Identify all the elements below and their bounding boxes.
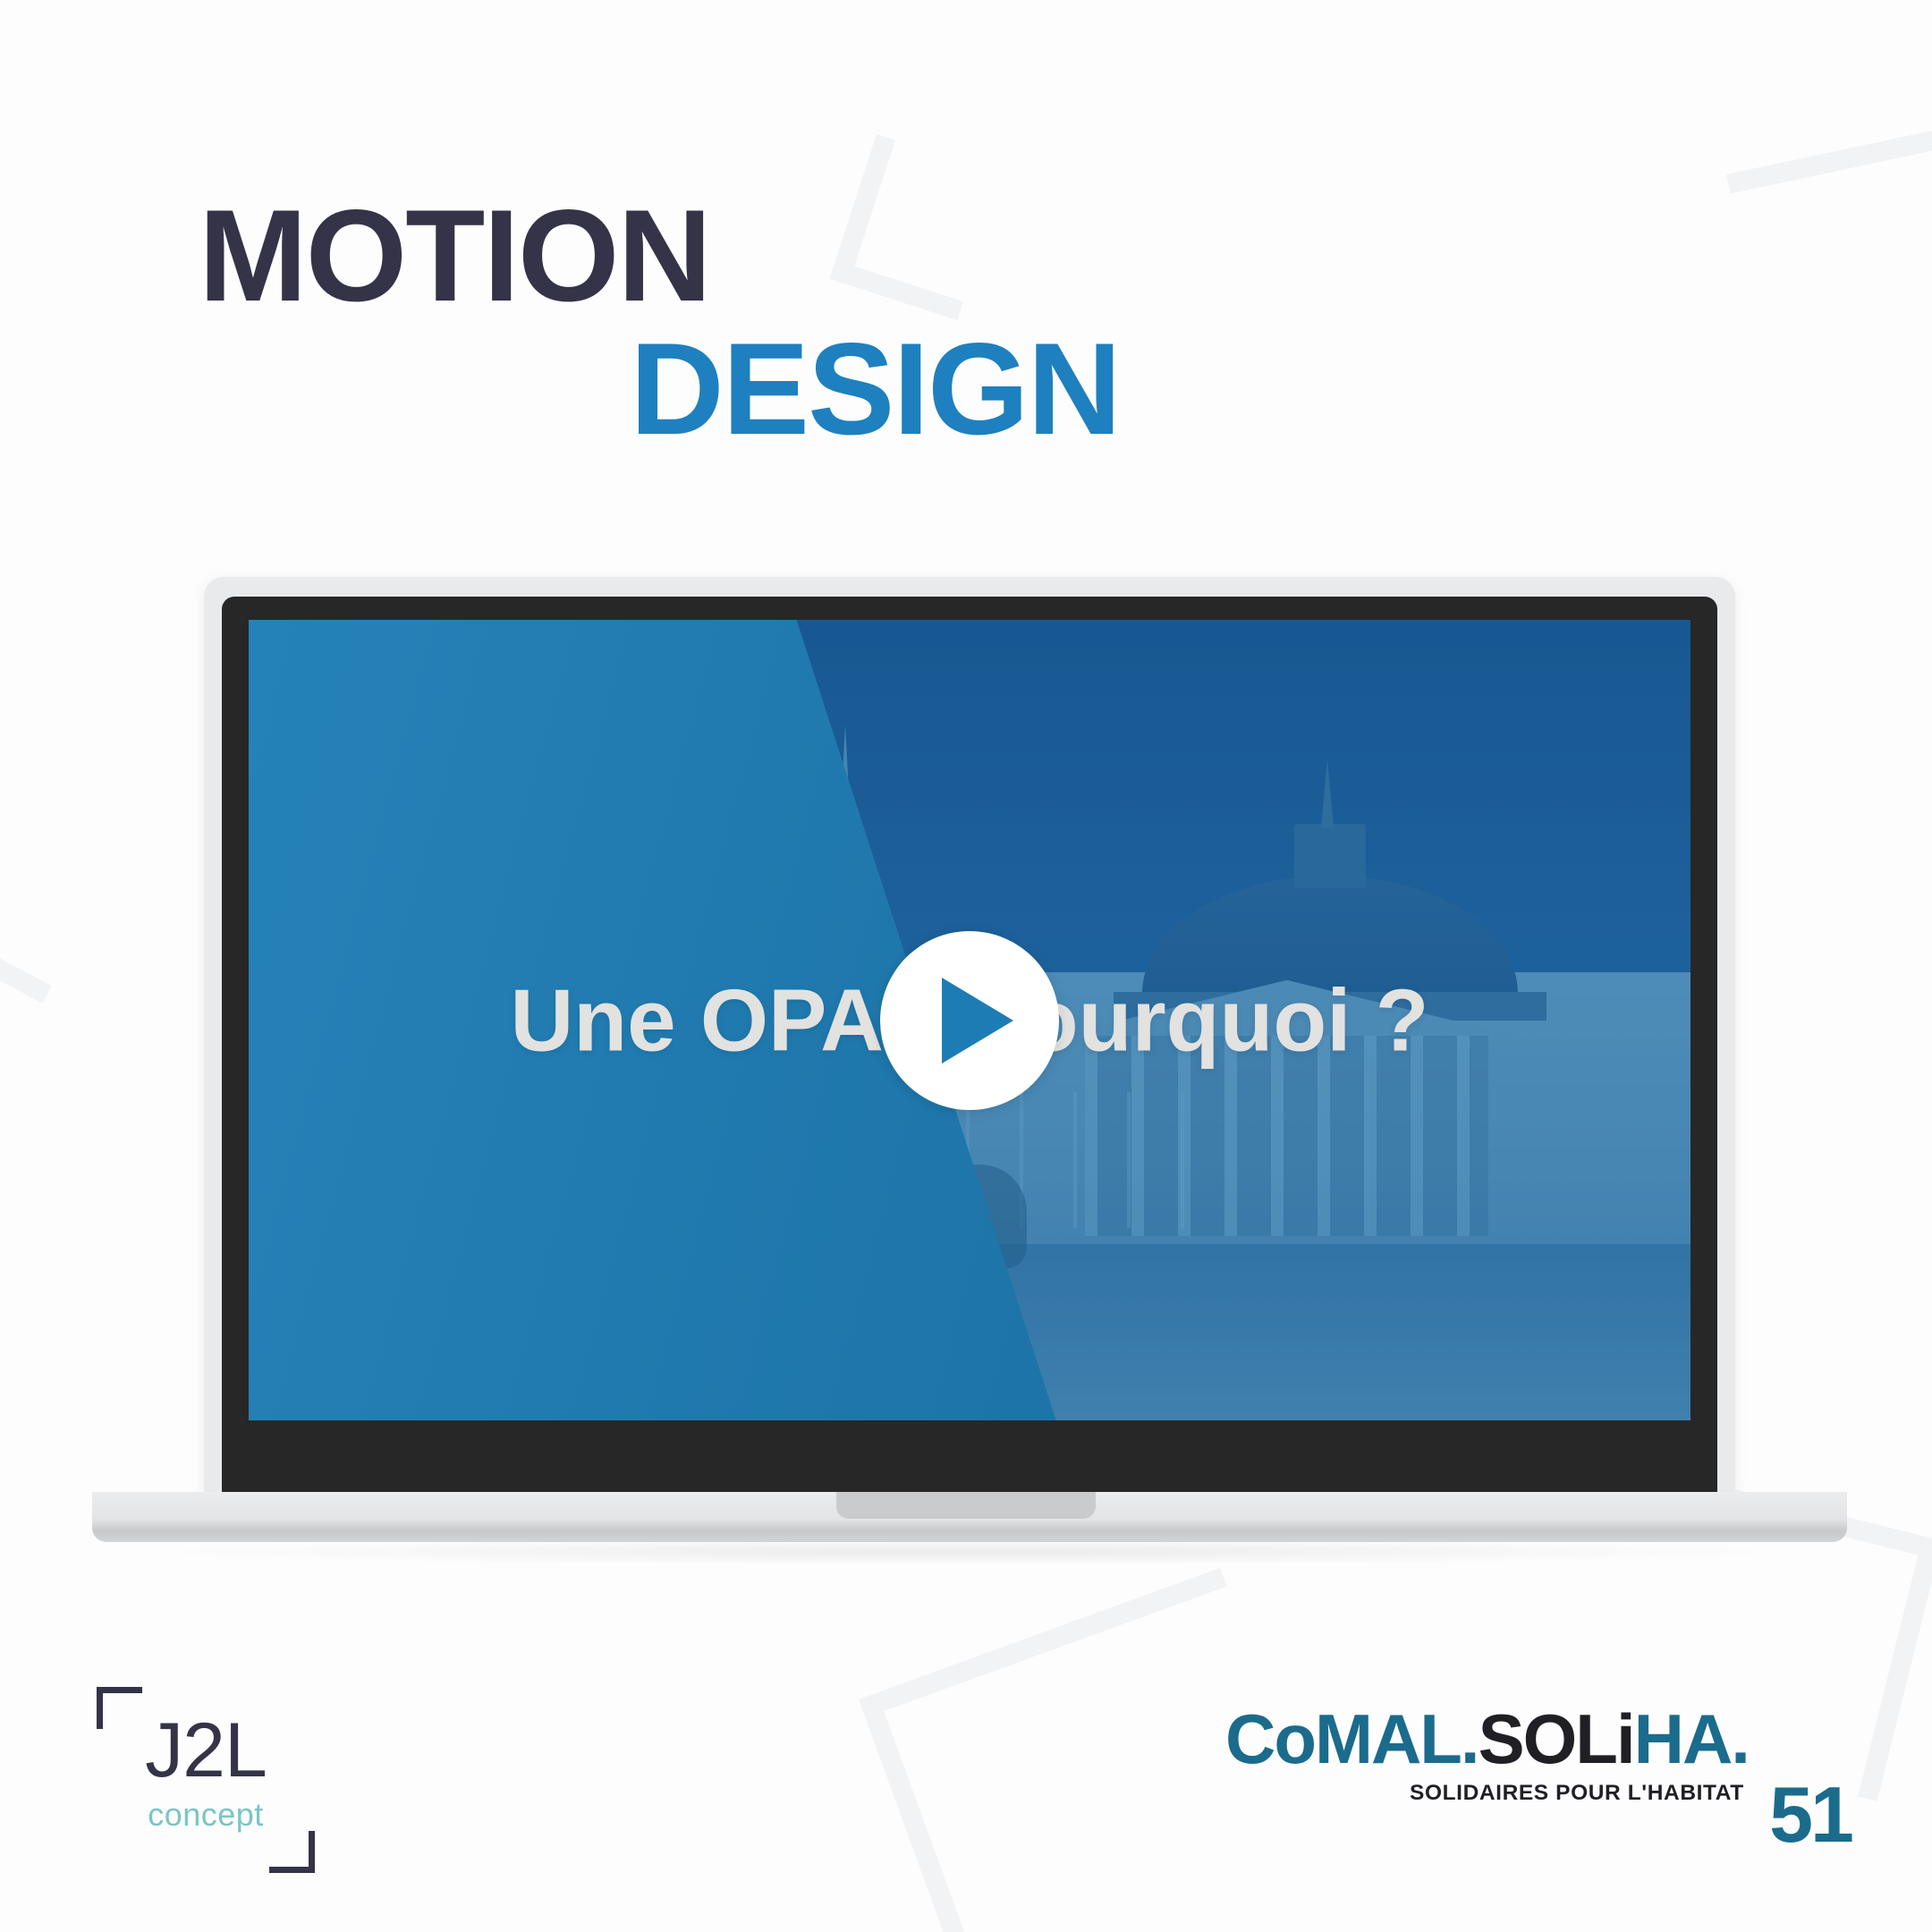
bracket-arm-horizontal: [859, 1568, 1227, 1718]
bracket-arm-vertical: [859, 1692, 1009, 1932]
comal-wordmark: CoMAL.SOLiHA.: [1225, 1704, 1749, 1774]
laptop-bezel: Une OPAH pourquoi ?: [222, 597, 1717, 1494]
comal-soliha-logo: CoMAL.SOLiHA. SOLIDAIRES POUR L'HABITAT …: [1225, 1704, 1851, 1874]
comal-wordmark-part1: CoMAL.: [1225, 1699, 1479, 1778]
play-button[interactable]: [880, 931, 1059, 1110]
play-icon: [942, 978, 1013, 1063]
laptop-base-notch: [836, 1492, 1096, 1519]
j2l-tagline: concept: [89, 1796, 322, 1834]
comal-wordmark-part2: SOLi: [1479, 1699, 1634, 1778]
laptop-drop-shadow: [161, 1538, 1771, 1565]
headline-line-motion: MOTION: [199, 190, 1147, 323]
bracket-arm-vertical: [1858, 1536, 1932, 1801]
page-title: MOTION DESIGN: [199, 190, 1147, 456]
j2l-wordmark: J2L: [89, 1712, 322, 1789]
comal-department-number: 51: [1769, 1775, 1851, 1854]
comal-tagline: SOLIDAIRES POUR L'HABITAT: [1410, 1781, 1744, 1806]
headline-line-design: DESIGN: [199, 323, 1147, 456]
video-screen[interactable]: Une OPAH pourquoi ?: [249, 620, 1690, 1420]
j2l-concept-logo: J2L concept: [89, 1682, 322, 1878]
laptop-mockup: Une OPAH pourquoi ?: [0, 577, 1932, 1552]
comal-wordmark-part3: HA.: [1634, 1699, 1749, 1778]
logo-bracket-bottom-right-icon: [269, 1831, 315, 1873]
bracket-arm-horizontal: [1726, 126, 1932, 194]
laptop-lid: Une OPAH pourquoi ?: [204, 577, 1735, 1494]
poster-canvas: MOTION DESIGN: [0, 0, 1932, 1932]
